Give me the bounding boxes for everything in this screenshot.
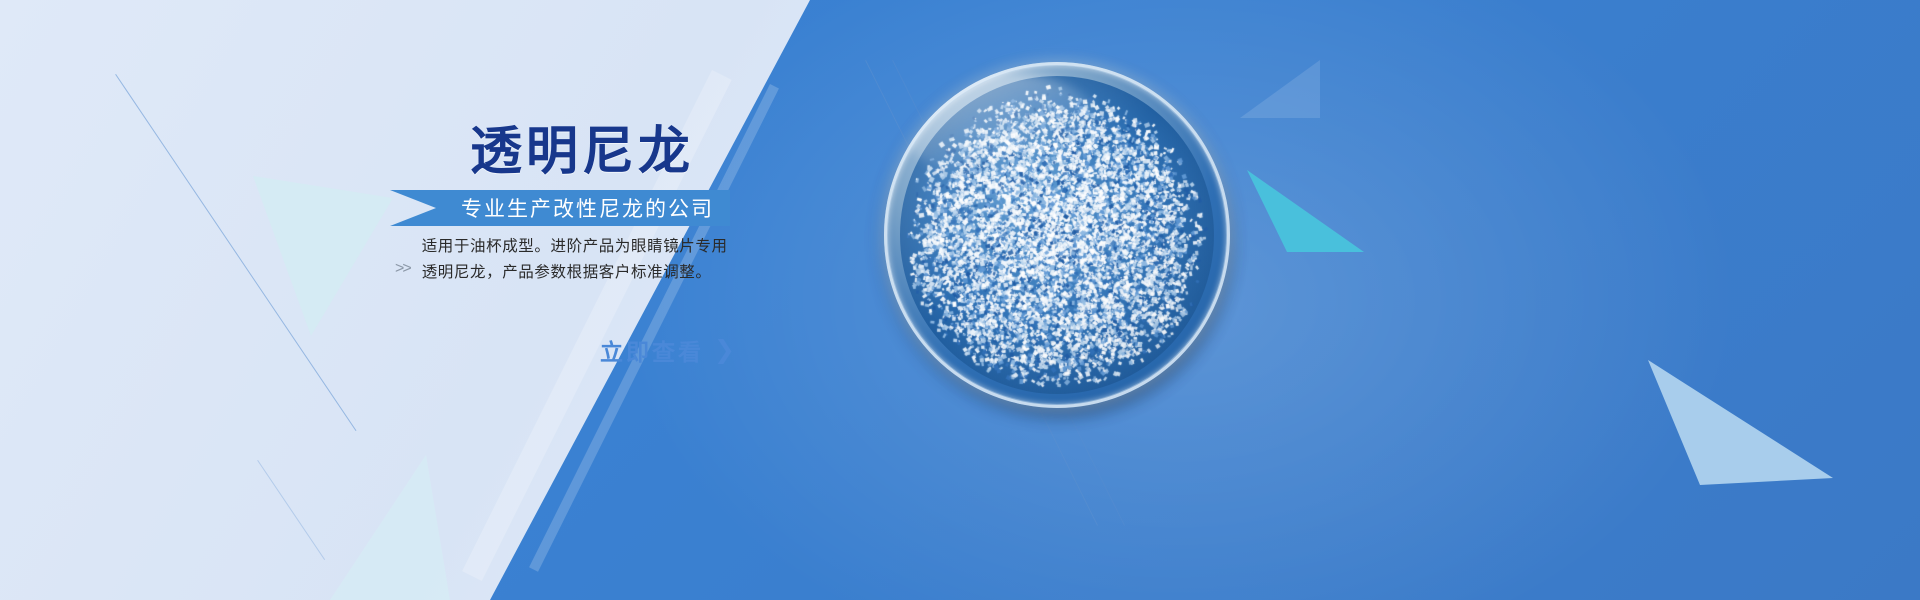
product-hero-banner: 透明尼龙 专业生产改性尼龙的公司 >> 适用于油杯成型。进阶产品为眼睛镜片专用 … (0, 0, 1920, 600)
banner-content: 透明尼龙 专业生产改性尼龙的公司 >> 适用于油杯成型。进阶产品为眼睛镜片专用 … (0, 0, 820, 600)
nylon-pellets (900, 76, 1214, 394)
view-now-button[interactable]: 立即查看 ❯ (600, 333, 735, 367)
description-text: 适用于油杯成型。进阶产品为眼睛镜片专用 透明尼龙，产品参数根据客户标准调整。 (422, 234, 728, 286)
tagline-ribbon: 专业生产改性尼龙的公司 (390, 190, 730, 226)
view-now-label: 立即查看 (600, 333, 704, 367)
description-line-1: 适用于油杯成型。进阶产品为眼睛镜片专用 (422, 238, 728, 255)
description-line-2: 透明尼龙，产品参数根据客户标准调整。 (422, 264, 712, 281)
tagline-text: 专业生产改性尼龙的公司 (461, 193, 730, 223)
dish-glass (884, 62, 1230, 408)
double-chevron-icon: >> (395, 260, 410, 278)
product-image-petri-dish (884, 62, 1230, 408)
description-block: >> 适用于油杯成型。进阶产品为眼睛镜片专用 透明尼龙，产品参数根据客户标准调整… (395, 234, 728, 286)
chevron-right-icon: ❯ (714, 335, 735, 365)
banner-title: 透明尼龙 (470, 126, 694, 178)
